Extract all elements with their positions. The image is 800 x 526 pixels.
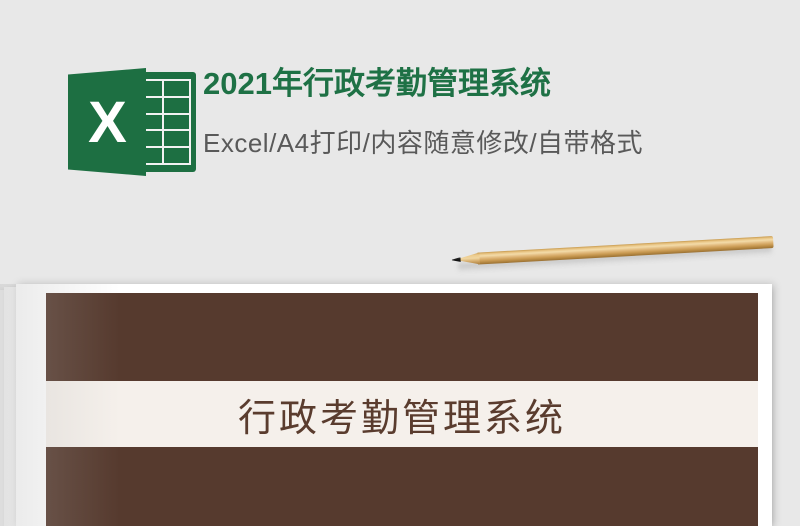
document-title-band: 行政考勤管理系统 (46, 381, 758, 447)
document-band-bottom (46, 447, 758, 526)
excel-grid-cell (164, 81, 189, 96)
promo-banner: X 2021年行政考勤管理系统 Excel/A4打印/内容随意修改/自带格式 (0, 0, 800, 282)
excel-icon-letter: X (68, 68, 146, 176)
document-page: 行政考勤管理系统 (46, 293, 758, 526)
promo-text-block: 2021年行政考勤管理系统 Excel/A4打印/内容随意修改/自带格式 (203, 62, 793, 164)
excel-grid-cell (164, 98, 189, 113)
promo-subtitle: Excel/A4打印/内容随意修改/自带格式 (203, 122, 793, 164)
promo-title: 2021年行政考勤管理系统 (203, 62, 793, 106)
document-band-top (46, 293, 758, 381)
document-title: 行政考勤管理系统 (238, 387, 566, 442)
excel-file-icon: X (60, 56, 200, 186)
pencil-graphite-tip (452, 257, 461, 262)
excel-grid-cell (164, 115, 189, 130)
wooden-pencil (451, 229, 774, 281)
excel-grid-cell (164, 131, 189, 146)
document-preview-stack: 行政考勤管理系统 (0, 284, 800, 526)
paper-sheet-front[interactable]: 行政考勤管理系统 (16, 284, 772, 526)
excel-grid-cell (164, 148, 189, 163)
